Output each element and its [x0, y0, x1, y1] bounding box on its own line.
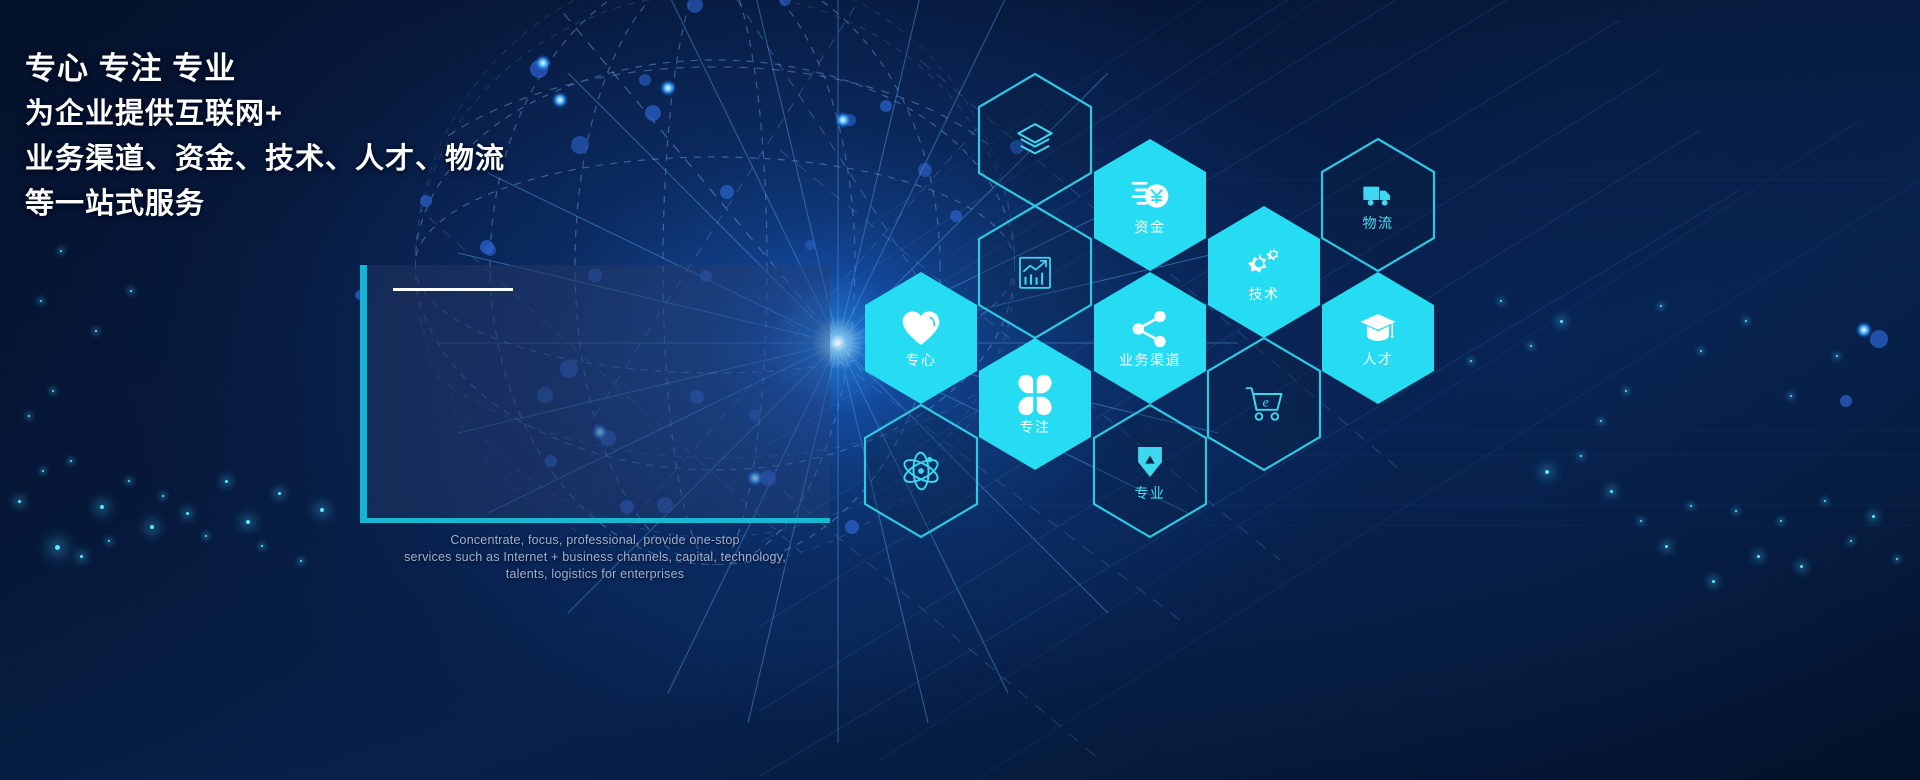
hexagon-shape — [1319, 137, 1437, 273]
hexagon-shape — [1205, 336, 1323, 472]
hexagon-shape — [1319, 270, 1437, 406]
hexagon-ecommerce[interactable]: e — [1205, 336, 1323, 472]
hexagon-shape — [976, 204, 1094, 340]
hexagon-capital[interactable]: 资金 — [1091, 137, 1209, 273]
hexagon-channels[interactable]: 业务渠道 — [1091, 270, 1209, 406]
hexagon-shape — [1205, 204, 1323, 340]
hexagon-layers[interactable] — [976, 72, 1094, 208]
hexagon-shape — [1091, 403, 1209, 539]
hexagon-cluster: 资金 物流 — [0, 0, 1920, 780]
hero-banner: 专心 专注 专业 为企业提供互联网+ 业务渠道、资金、技术、人才、物流 等一站式… — [0, 0, 1920, 780]
hexagon-chart[interactable] — [976, 204, 1094, 340]
hexagon-professional[interactable]: 专业 — [1091, 403, 1209, 539]
hexagon-logistics[interactable]: 物流 — [1319, 137, 1437, 273]
hexagon-shape — [976, 336, 1094, 472]
hexagon-shape — [862, 270, 980, 406]
hexagon-tech[interactable]: 技术 — [1205, 204, 1323, 340]
hexagon-atom[interactable] — [862, 403, 980, 539]
hexagon-focusheart[interactable]: 专心 — [862, 270, 980, 406]
hexagon-shape — [1091, 137, 1209, 273]
hexagon-devotion[interactable]: 专注 — [976, 336, 1094, 472]
hexagon-shape — [1091, 270, 1209, 406]
hexagon-shape — [976, 72, 1094, 208]
hexagon-talent[interactable]: 人才 — [1319, 270, 1437, 406]
hexagon-shape — [862, 403, 980, 539]
